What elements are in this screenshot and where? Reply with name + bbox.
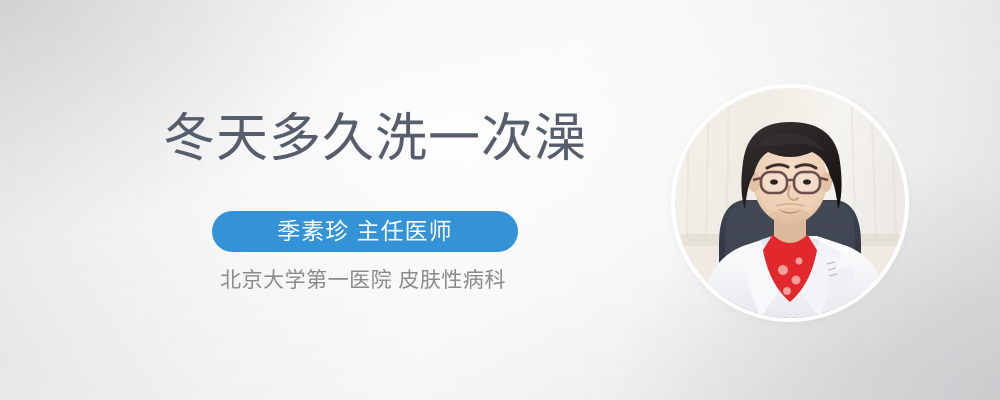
doctor-portrait-avatar[interactable]: [675, 88, 905, 318]
page-title: 冬天多久洗一次澡: [163, 108, 587, 170]
doctor-badge-label: 季素珍 主任医师: [277, 220, 452, 243]
banner-text-block: 冬天多久洗一次澡 季素珍 主任医师 北京大学第一医院 皮肤性病科: [0, 0, 660, 400]
doctor-affiliation: 北京大学第一医院 皮肤性病科: [202, 267, 524, 295]
doctor-badge[interactable]: 季素珍 主任医师: [212, 211, 518, 252]
doctor-video-banner: 冬天多久洗一次澡 季素珍 主任医师 北京大学第一医院 皮肤性病科: [0, 0, 1000, 400]
doctor-portrait-illustration: [675, 88, 905, 318]
